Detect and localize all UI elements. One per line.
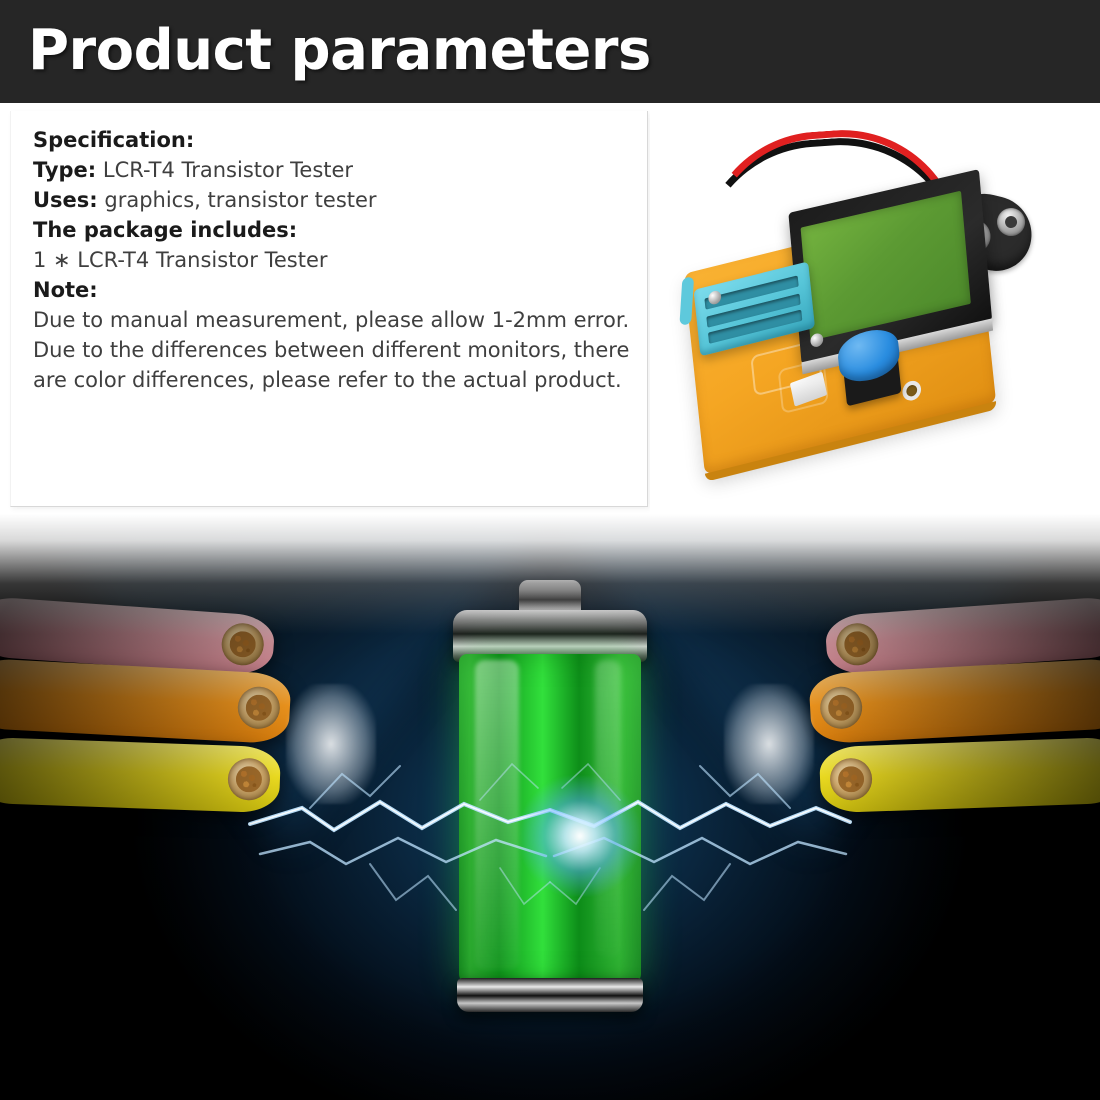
lcd-screen xyxy=(801,191,971,341)
tester-board-illustration xyxy=(650,103,1100,514)
spec-line-note: Note: xyxy=(33,275,635,305)
upper-section: Specification: Type: LCR-T4 Transistor T… xyxy=(0,103,1100,514)
spec-line-note-monitors: Due to the differences between different… xyxy=(33,335,635,395)
mounting-hole xyxy=(902,379,922,403)
hero-image xyxy=(0,514,1100,1100)
spec-line-package-item: 1 ∗ LCR-T4 Transistor Tester xyxy=(33,245,635,275)
spec-line-package-includes: The package includes: xyxy=(33,215,635,245)
spec-line-specification: Specification: xyxy=(33,125,635,155)
spec-value: LCR-T4 Transistor Tester xyxy=(96,158,353,182)
snap-terminal-icon xyxy=(994,205,1028,239)
product-parameters-page: Product parameters Specification: Type: … xyxy=(0,0,1100,1100)
hero-top-fade xyxy=(0,514,1100,634)
product-photo xyxy=(650,103,1100,514)
spec-label: Note: xyxy=(33,278,98,302)
spec-line-uses: Uses: graphics, transistor tester xyxy=(33,185,635,215)
spec-value: 1 ∗ LCR-T4 Transistor Tester xyxy=(33,248,328,272)
zif-socket[interactable] xyxy=(694,261,815,356)
spec-label: Type: xyxy=(33,158,96,182)
spec-value: graphics, transistor tester xyxy=(98,188,377,212)
specification-text: Specification: Type: LCR-T4 Transistor T… xyxy=(33,125,635,395)
page-title: Product parameters xyxy=(28,13,651,89)
spec-value: Due to the differences between different… xyxy=(33,338,629,392)
test-button[interactable] xyxy=(843,349,902,407)
spec-label: Uses: xyxy=(33,188,98,212)
spec-line-type: Type: LCR-T4 Transistor Tester xyxy=(33,155,635,185)
page-banner: Product parameters xyxy=(0,0,1100,103)
spec-value: Due to manual measurement, please allow … xyxy=(33,308,629,332)
specification-panel: Specification: Type: LCR-T4 Transistor T… xyxy=(10,111,648,507)
pcb-edge xyxy=(705,401,997,482)
spec-label: Specification: xyxy=(33,128,194,152)
spec-line-note-measurement: Due to manual measurement, please allow … xyxy=(33,305,635,335)
zif-lever-icon[interactable] xyxy=(679,277,694,325)
spec-label: The package includes: xyxy=(33,218,297,242)
